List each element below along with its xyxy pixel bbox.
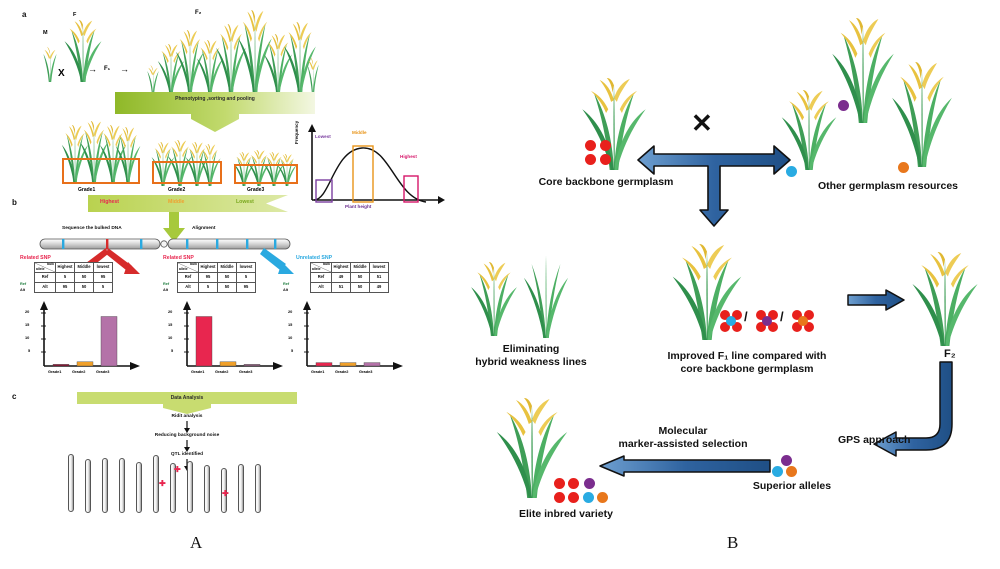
- gradient-label-lowest: Lowest: [236, 199, 254, 205]
- chart2-cat-2: Grade2: [215, 369, 228, 374]
- chart3-cat-3: Grade3: [359, 369, 372, 374]
- panel-a-letter: A: [190, 533, 202, 553]
- f1-label: F₁: [104, 66, 110, 72]
- chromosome-set: ✚ ✚ ✚: [68, 452, 318, 522]
- bar-chart-1: Ref Alt 5 10 15 20 Grade1 Grade2 Grade3: [22, 300, 152, 378]
- panel-a-sublabel-c: c: [12, 392, 16, 401]
- snp-table-1-corner: bulk allele: [35, 263, 56, 273]
- chart3-alt-legend: Alt: [283, 288, 288, 292]
- other-allele-dot-orange: [898, 162, 909, 173]
- gps-approach-label: GPS approach: [838, 434, 958, 446]
- weak-line-plant-2: [522, 252, 570, 338]
- freq-annot-lowest: Lowest: [315, 134, 331, 139]
- gps-curved-arrow: [870, 360, 980, 470]
- chart3-cat-2: Grade2: [335, 369, 348, 374]
- arrow-to-f1: →: [88, 64, 97, 74]
- weak-line-plant-1: [468, 262, 520, 336]
- elite-allele-red-2: [568, 478, 579, 489]
- f2-population-plants: [140, 8, 320, 90]
- tri-directional-arrow: [628, 140, 808, 230]
- chart1-ytick-15: 15: [25, 322, 29, 327]
- table-row: Ref 49 50 51: [311, 273, 389, 283]
- superior-alleles-label: Superior alleles: [712, 480, 872, 492]
- chart2-alt-legend: Alt: [163, 288, 168, 292]
- elite-allele-cyan: [583, 492, 594, 503]
- f1-separator-1: /: [744, 309, 748, 324]
- core-allele-dot-2: [600, 140, 611, 151]
- f1-cluster1-center-cyan: [726, 316, 736, 326]
- chart2-ytick-20: 20: [168, 309, 172, 314]
- snp-table-2-col-3: lowest: [237, 263, 256, 273]
- chromosome-8: [187, 461, 193, 513]
- core-allele-dot-4: [600, 154, 611, 165]
- elite-allele-red-4: [568, 492, 579, 503]
- chart3-ytick-20: 20: [288, 309, 292, 314]
- data-analysis-label: Data Analysis: [77, 395, 297, 401]
- chart1-ytick-20: 20: [25, 309, 29, 314]
- chart1-ytick-5: 5: [28, 348, 30, 353]
- chart2-ref-legend: Ref: [163, 282, 169, 286]
- male-parent-label: M: [43, 30, 48, 36]
- f2-label-panelb: F₂: [944, 348, 956, 360]
- chart1-alt-legend: Alt: [20, 288, 25, 292]
- snp-title-2: Related SNP: [163, 255, 194, 261]
- mas-arrow: [598, 456, 770, 476]
- other-germplasm-label: Other germplasm resources: [778, 180, 998, 192]
- chart3-svg: [285, 300, 415, 378]
- panel-b-letter: B: [727, 533, 738, 553]
- improved-f1-label-line2: core backbone germplasm: [612, 363, 882, 375]
- snp-title-3: Unrelated SNP: [296, 255, 332, 261]
- improved-f1-label-line1: Improved F₁ line compared with: [612, 350, 882, 362]
- snp-table-1-col-2: Middle: [75, 263, 94, 273]
- elite-allele-purple: [584, 478, 595, 489]
- table-row: Alt 51 50 49: [311, 283, 389, 293]
- table-row: Alt 95 50 5: [35, 283, 113, 293]
- cross-symbol-panelb: ✕: [691, 110, 713, 136]
- snp-table-2: bulk allele Highest Middle lowest Ref 95…: [177, 262, 256, 293]
- chart1-cat-2: Grade2: [72, 369, 85, 374]
- eliminating-label-line1: Eliminating: [446, 343, 616, 355]
- snp-table-3-col-2: Middle: [351, 263, 370, 273]
- freq-annot-highest: Highest: [400, 154, 417, 159]
- chart3-ytick-5: 5: [291, 348, 293, 353]
- female-parent-label: F: [73, 12, 76, 18]
- freq-annot-middle: Middle: [352, 130, 367, 135]
- chart2-ytick-5: 5: [171, 348, 173, 353]
- snp-table-3-col-3: lowest: [370, 263, 389, 273]
- chart3-ytick-15: 15: [288, 322, 292, 327]
- qtl-marker-3: ✚: [222, 490, 229, 498]
- superior-allele-orange: [786, 466, 797, 477]
- superior-allele-cyan: [772, 466, 783, 477]
- phenotyping-banner-label: Phenotyping ,sorting and pooling: [115, 96, 315, 102]
- grade3-box: [234, 164, 298, 184]
- flow-step-ridit: Ridit analysis: [77, 414, 297, 419]
- chart3-ref-legend: Ref: [283, 282, 289, 286]
- chart1-svg: [22, 300, 152, 378]
- mas-label-line1: Molecular: [598, 425, 768, 437]
- chart2-svg: [165, 300, 295, 378]
- table-row: Alt 5 50 95: [178, 283, 256, 293]
- gradient-label-middle: Middle: [168, 199, 184, 205]
- superior-allele-purple: [781, 455, 792, 466]
- grade-label-1: Grade1: [78, 187, 95, 193]
- other-allele-dot-purple: [838, 100, 849, 111]
- chromosome-2: [85, 459, 91, 513]
- chromosome-3: [102, 458, 108, 513]
- grade2-box: [152, 161, 222, 184]
- mas-label-line2: marker-assisted selection: [588, 438, 778, 450]
- frequency-chart: Frequency Plant height Lowest Middle Hig…: [300, 122, 445, 212]
- cross-symbol: X: [58, 68, 65, 79]
- snp-branch-arrow-blue: [258, 248, 308, 274]
- alignment-label: Alignment: [192, 226, 215, 231]
- chart1-ytick-10: 10: [25, 335, 29, 340]
- chromosome-11: [238, 464, 244, 513]
- f1-to-f2-arrow: [848, 290, 906, 312]
- flow-arrow-2: [182, 440, 192, 452]
- chart2-ytick-10: 10: [168, 335, 172, 340]
- chart1-cat-1: Grade1: [48, 369, 61, 374]
- grade1-box: [62, 158, 140, 184]
- gradient-label-highest: Highest: [100, 199, 119, 205]
- snp-table-1-col-1: Highest: [56, 263, 75, 273]
- table-row: Ref 95 50 5: [178, 273, 256, 283]
- core-allele-dot-1: [585, 140, 596, 151]
- f1-separator-2: /: [780, 309, 784, 324]
- panel-a-sublabel-b: b: [12, 198, 17, 207]
- chromosome-4: [119, 458, 125, 513]
- f1-cluster2-center-purple: [762, 316, 772, 326]
- chromosome-5: [136, 462, 142, 513]
- flow-arrow-1: [182, 421, 192, 433]
- qtl-marker-2: ✚: [159, 480, 166, 488]
- female-parent-plant: [62, 20, 104, 82]
- freq-ylabel: Frequency: [294, 121, 299, 144]
- core-allele-dot-3: [585, 154, 596, 165]
- figure-canvas: a b c M F X → F₁ → F₂ Phenotyping ,sorti…: [0, 0, 1000, 569]
- chart2-cat-3: Grade3: [239, 369, 252, 374]
- bar-chart-3: Ref Alt 5 10 15 20 Grade1 Grade2 Grade3: [285, 300, 415, 378]
- eliminating-label-line2: hybrid weakness lines: [446, 356, 616, 368]
- snp-table-2-col-1: Highest: [199, 263, 218, 273]
- chart3-cat-1: Grade1: [311, 369, 324, 374]
- other-germplasm-plant-3: [888, 62, 956, 167]
- panel-a-sublabel-a: a: [22, 10, 26, 19]
- bar-chart-2: Ref Alt 5 10 15 20 Grade1 Grade2 Grade3: [165, 300, 295, 378]
- flow-step-noise: Reducing background noise: [77, 433, 297, 438]
- snp-table-1: bulk allele Highest Middle lowest Ref 5 …: [34, 262, 113, 293]
- elite-allele-red-3: [554, 492, 565, 503]
- freq-xlabel: Plant height: [345, 204, 371, 209]
- elite-variety-label: Elite inbred variety: [466, 508, 666, 520]
- chart2-cat-1: Grade1: [191, 369, 204, 374]
- qtl-marker-1: ✚: [174, 466, 181, 474]
- snp-title-1: Related SNP: [20, 255, 51, 261]
- table-row: Ref 5 50 95: [35, 273, 113, 283]
- grade-label-2: Grade2: [168, 187, 185, 193]
- snp-table-1-col-3: lowest: [94, 263, 113, 273]
- chart1-ref-legend: Ref: [20, 282, 26, 286]
- f1-cluster3-center-orange: [798, 316, 808, 326]
- elite-allele-orange: [597, 492, 608, 503]
- snp-table-3-col-1: Highest: [332, 263, 351, 273]
- chromosome-12: [255, 464, 261, 513]
- chart1-cat-3: Grade3: [96, 369, 109, 374]
- snp-table-3: bulk allele Highest Middle lowest Ref 49…: [310, 262, 389, 293]
- chromosome-1: [68, 454, 74, 512]
- elite-allele-red-1: [554, 478, 565, 489]
- snp-table-2-corner: bulk allele: [178, 263, 199, 273]
- arrow-to-f2: →: [120, 64, 129, 74]
- chart3-ytick-10: 10: [288, 335, 292, 340]
- snp-table-3-corner: bulk allele: [311, 263, 332, 273]
- grade-label-3: Grade3: [247, 187, 264, 193]
- sequence-bulked-dna-label: Sequence the bulked DNA: [62, 226, 122, 231]
- f2-plant: [908, 252, 982, 346]
- chromosome-9: [204, 465, 210, 513]
- chart2-ytick-15: 15: [168, 322, 172, 327]
- snp-table-2-col-2: Middle: [218, 263, 237, 273]
- f1-allele-clusters: / /: [720, 310, 860, 336]
